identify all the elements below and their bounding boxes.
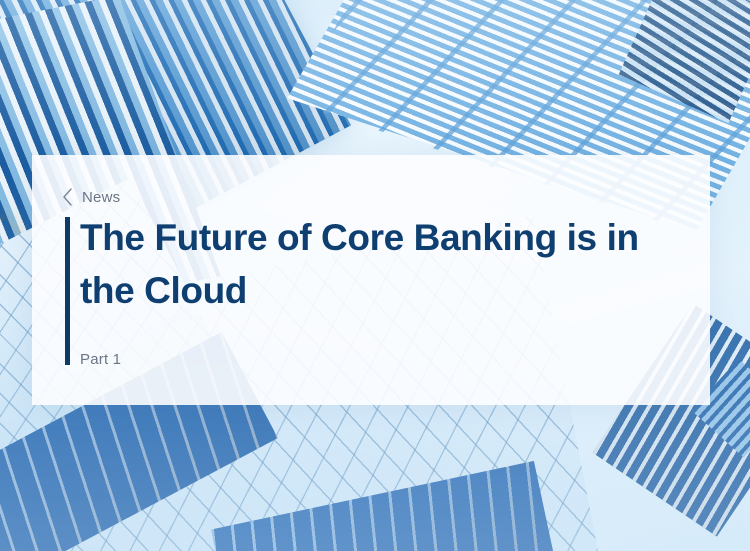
article-header-card: News The Future of Core Banking is in th… [32,155,710,405]
title-accent-bar [65,217,70,365]
breadcrumb[interactable]: News [62,188,120,206]
hero-banner: News The Future of Core Banking is in th… [0,0,750,551]
breadcrumb-label: News [82,189,120,206]
part-label: Part 1 [80,351,121,368]
chevron-left-icon [62,188,73,206]
page-title: The Future of Core Banking is in the Clo… [80,212,690,317]
